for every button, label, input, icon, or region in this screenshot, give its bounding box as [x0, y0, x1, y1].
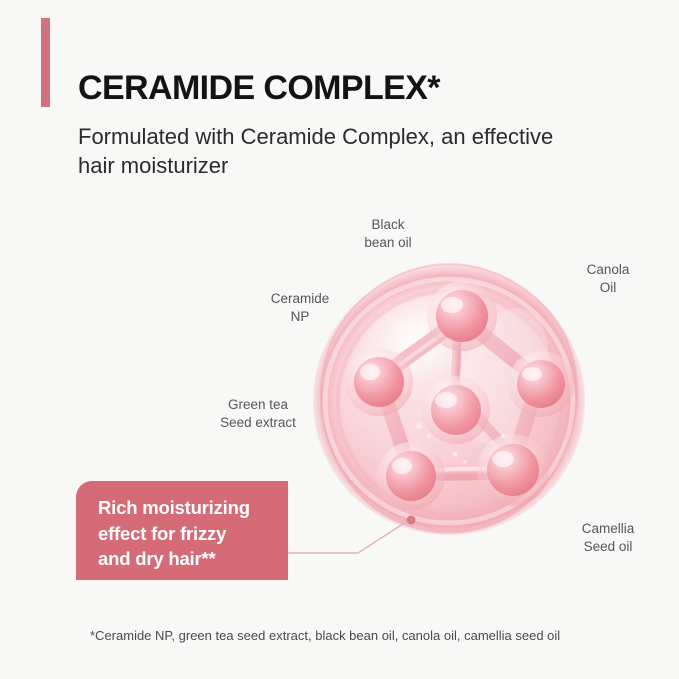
accent-bar [41, 18, 50, 107]
label-green-tea-seed-extract: Green tea Seed extract [188, 396, 328, 432]
page-title: CERAMIDE COMPLEX* [78, 70, 618, 107]
footnote: *Ceramide NP, green tea seed extract, bl… [90, 628, 560, 645]
label-black-bean-oil: Black bean oil [332, 216, 444, 252]
page-subtitle: Formulated with Ceramide Complex, an eff… [78, 122, 558, 180]
infographic-page: CERAMIDE COMPLEX* Formulated with Cerami… [0, 0, 679, 679]
label-ceramide-np: Ceramide NP [240, 290, 360, 326]
label-canola-oil: Canola Oil [556, 261, 660, 297]
callout-text: Rich moisturizing effect for frizzy and … [98, 495, 288, 572]
label-camellia-seed-oil: Camellia Seed oil [552, 520, 664, 556]
callout-box: Rich moisturizing effect for frizzy and … [76, 481, 288, 580]
